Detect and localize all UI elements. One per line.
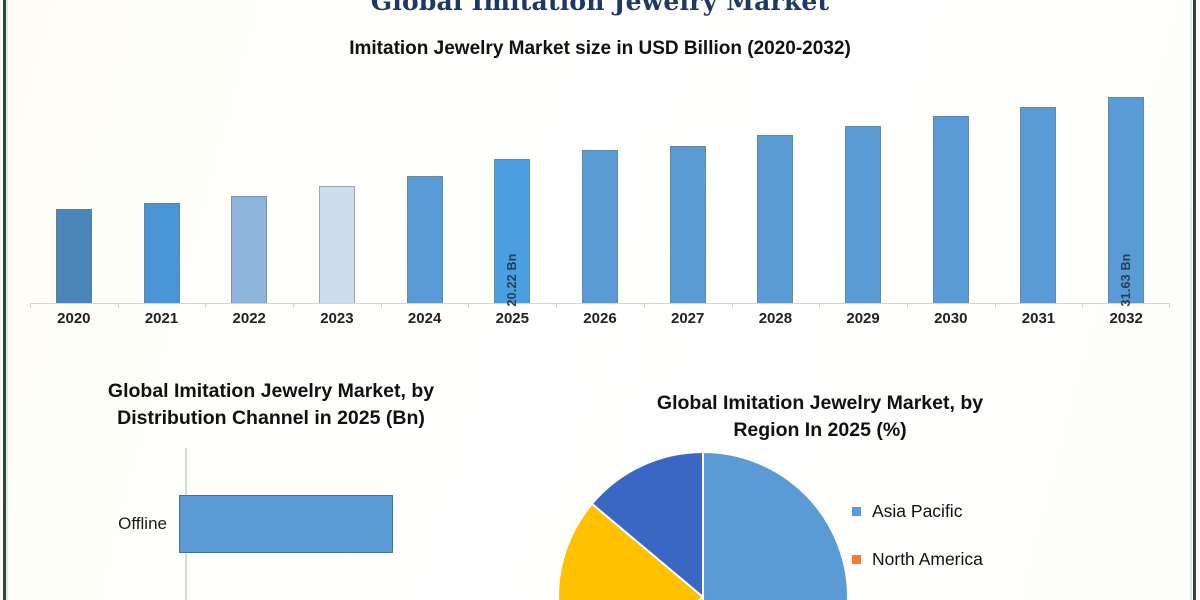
bar-2024[interactable] (407, 176, 443, 303)
region-pie-title-line1: Global Imitation Jewelry Market, by (570, 390, 1070, 417)
bar-column-2031[interactable] (1020, 107, 1056, 303)
bar-chart-tick (732, 304, 733, 308)
bar-value-label-2025: 20.22 Bn (505, 253, 519, 306)
bar-2026[interactable] (582, 150, 618, 303)
region-pie-svg (558, 452, 848, 600)
bar-2029[interactable] (845, 126, 881, 303)
pie-slice-asia-pacific[interactable] (703, 452, 848, 600)
bar-chart-xtick-2027: 2027 (644, 310, 732, 327)
distribution-channel-title-line1: Global Imitation Jewelry Market, by (36, 378, 506, 405)
bar-column-2024[interactable] (407, 176, 443, 303)
region-pie-title: Global Imitation Jewelry Market, by Regi… (570, 390, 1070, 444)
bar-chart-xtick-2029: 2029 (819, 310, 907, 327)
bar-chart-xtick-2022: 2022 (205, 310, 293, 327)
legend-label: Asia Pacific (872, 501, 962, 522)
bar-column-2022[interactable] (231, 196, 267, 303)
bar-chart-tick (644, 304, 645, 308)
bar-2025[interactable]: 20.22 Bn (494, 159, 530, 303)
bar-2028[interactable] (757, 135, 793, 303)
bar-2032[interactable]: 31.63 Bn (1108, 97, 1144, 303)
bar-column-2029[interactable] (845, 126, 881, 303)
bar-chart-xtick-2025: 2025 (468, 310, 556, 327)
bar-column-2020[interactable] (56, 209, 92, 303)
bar-chart-xtick-2028: 2028 (732, 310, 820, 327)
bar-chart-tick (556, 304, 557, 308)
bar-chart-tick (381, 304, 382, 308)
distribution-channel-plot-area: Offline (36, 448, 506, 600)
frame-inner-right (1190, 0, 1192, 600)
bar-chart-xtick-2031: 2031 (995, 310, 1083, 327)
legend-item-europe[interactable]: Europe (852, 583, 1082, 600)
bar-chart-tick (819, 304, 820, 308)
legend-swatch-icon (852, 555, 861, 564)
bar-chart-xtick-2026: 2026 (556, 310, 644, 327)
bar-chart-tick (1082, 304, 1083, 308)
distribution-channel-title: Global Imitation Jewelry Market, by Dist… (36, 378, 506, 432)
bar-chart-tick (907, 304, 908, 308)
banner-title: Global Imitation Jewelry Market (0, 0, 1200, 16)
bar-2031[interactable] (1020, 107, 1056, 303)
infographic-canvas: Global Imitation Jewelry Market Imitatio… (0, 0, 1200, 600)
bar-chart-tick (468, 304, 469, 308)
frame-border-right (1193, 0, 1196, 600)
bar-chart-tick (995, 304, 996, 308)
legend-swatch-icon (852, 507, 861, 516)
distribution-channel-bar-offline[interactable] (179, 495, 393, 553)
legend-label: North America (872, 549, 983, 570)
bar-chart-tick (118, 304, 119, 308)
region-pie-chart (558, 452, 848, 600)
bar-column-2021[interactable] (144, 203, 180, 303)
bar-column-2032[interactable]: 31.63 Bn (1108, 97, 1144, 303)
bar-2030[interactable] (933, 116, 969, 303)
bar-chart-plot-area: 20.22 Bn31.63 Bn (30, 62, 1170, 304)
bar-chart-xtick-2023: 2023 (293, 310, 381, 327)
distribution-channel-title-line2: Distribution Channel in 2025 (Bn) (36, 405, 506, 432)
bar-column-2023[interactable] (319, 186, 355, 303)
bar-chart-xtick-2032: 2032 (1082, 310, 1170, 327)
bar-chart-tick (30, 304, 31, 308)
bar-column-2030[interactable] (933, 116, 969, 303)
bar-2020[interactable] (56, 209, 92, 303)
bar-column-2027[interactable] (670, 146, 706, 303)
bar-column-2026[interactable] (582, 150, 618, 303)
distribution-channel-row: Offline (36, 495, 506, 553)
region-pie-legend: Asia PacificNorth AmericaEurope (852, 487, 1082, 600)
bar-2021[interactable] (144, 203, 180, 303)
bar-chart-tick (293, 304, 294, 308)
legend-item-north-america[interactable]: North America (852, 535, 1082, 583)
bar-2027[interactable] (670, 146, 706, 303)
bar-chart-tick (205, 304, 206, 308)
legend-label: Europe (872, 597, 928, 600)
legend-item-asia-pacific[interactable]: Asia Pacific (852, 487, 1082, 535)
bar-chart-tick (1169, 304, 1170, 308)
bar-column-2028[interactable] (757, 135, 793, 303)
distribution-channel-label-offline: Offline (36, 514, 179, 534)
bar-chart-xtick-2024: 2024 (381, 310, 469, 327)
bar-chart-x-axis (30, 303, 1170, 304)
bar-column-2025[interactable]: 20.22 Bn (494, 159, 530, 303)
bar-chart-xtick-2030: 2030 (907, 310, 995, 327)
bar-2022[interactable] (231, 196, 267, 303)
bar-value-label-2032: 31.63 Bn (1119, 253, 1133, 306)
bar-chart-xtick-2021: 2021 (118, 310, 206, 327)
region-pie-title-line2: Region In 2025 (%) (570, 417, 1070, 444)
frame-inner-left (6, 0, 8, 600)
bar-2023[interactable] (319, 186, 355, 303)
bar-chart-xtick-2020: 2020 (30, 310, 118, 327)
bar-chart-title: Imitation Jewelry Market size in USD Bil… (0, 38, 1200, 60)
